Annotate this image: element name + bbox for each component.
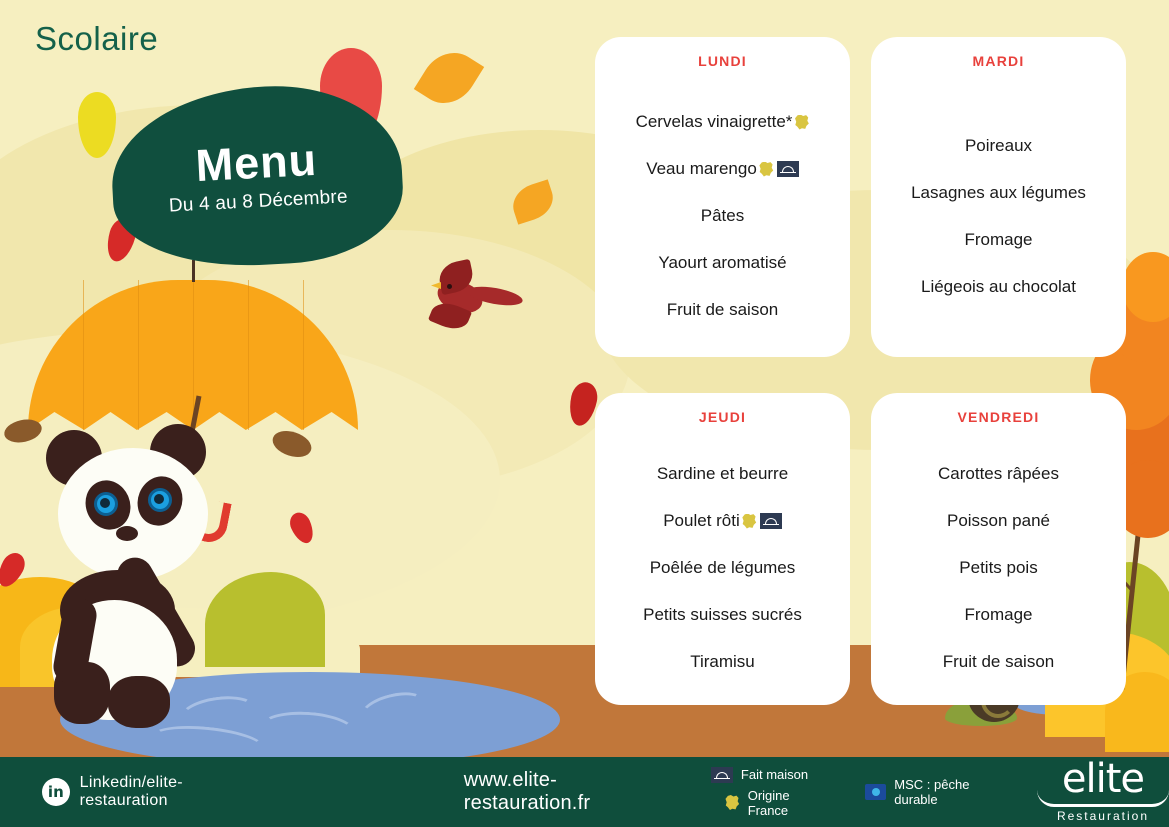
dish-item: Lasagnes aux légumes — [871, 169, 1126, 216]
dish-name: Fruit de saison — [667, 300, 779, 320]
page-title: Scolaire — [35, 20, 158, 58]
dish-item: Poisson pané — [871, 498, 1126, 545]
legend-item-fait-maison: Fait maison — [711, 767, 833, 783]
menu-card-mardi[interactable]: MARDI Poireaux Lasagnes aux légumes From… — [871, 37, 1126, 357]
menu-card-vendredi[interactable]: VENDREDI Carottes râpées Poisson pané Pe… — [871, 393, 1126, 705]
dish-name: Poulet rôti — [663, 511, 740, 531]
dish-name: Pâtes — [701, 206, 744, 226]
dish-item: Carottes râpées — [871, 451, 1126, 498]
dish-list: Poireaux Lasagnes aux légumes Fromage Li… — [871, 83, 1126, 357]
dish-item: Fruit de saison — [871, 639, 1126, 686]
panda-nose — [116, 526, 138, 541]
menu-title: Menu — [194, 136, 318, 187]
legend-item-msc: MSC : pêche durable — [865, 777, 1015, 807]
dish-item: Fromage — [871, 216, 1126, 263]
menu-period: Du 4 au 8 Décembre — [168, 186, 348, 217]
dish-name: Fromage — [964, 230, 1032, 250]
umbrella-tip — [192, 260, 195, 282]
menu-card-jeudi[interactable]: JEUDI Sardine et beurre Poulet rôti Poêl… — [595, 393, 850, 705]
brand-tagline: Restauration — [1057, 809, 1149, 823]
dish-list: Cervelas vinaigrette* Veau marengo Pâtes… — [595, 83, 850, 357]
dish-item: Veau marengo — [595, 146, 850, 193]
footer-bar: in Linkedin/elite-restauration www.elite… — [0, 757, 1169, 827]
dish-icons — [742, 513, 782, 529]
fait-maison-icon — [711, 767, 733, 783]
menu-card-lundi[interactable]: LUNDI Cervelas vinaigrette* Veau marengo… — [595, 37, 850, 357]
dish-item: Fromage — [871, 592, 1126, 639]
origine-france-icon — [759, 162, 774, 177]
day-label: LUNDI — [698, 53, 747, 69]
dish-item: Cervelas vinaigrette* — [595, 99, 850, 146]
dish-item: Tiramisu — [595, 639, 850, 686]
dish-name: Yaourt aromatisé — [658, 253, 786, 273]
linkedin-link[interactable]: in Linkedin/elite-restauration — [42, 774, 269, 810]
dish-list: Sardine et beurre Poulet rôti Poêlée de … — [595, 439, 850, 705]
bird-illustration — [425, 260, 515, 330]
day-label: JEUDI — [699, 409, 746, 425]
linkedin-icon: in — [42, 778, 70, 806]
dish-name: Poêlée de légumes — [650, 558, 796, 578]
legend-label: Origine France — [748, 788, 833, 818]
dish-name: Fruit de saison — [943, 652, 1055, 672]
day-label: VENDREDI — [958, 409, 1040, 425]
panda-leg — [108, 676, 170, 728]
day-label: MARDI — [973, 53, 1025, 69]
website-link[interactable]: www.elite-restauration.fr — [464, 769, 681, 815]
legend-label: Fait maison — [741, 767, 808, 782]
dish-name: Fromage — [964, 605, 1032, 625]
msc-icon — [865, 784, 887, 800]
origine-france-icon — [725, 795, 740, 810]
origine-france-icon — [742, 514, 757, 529]
dish-name: Petits pois — [959, 558, 1037, 578]
panda-illustration — [30, 430, 260, 730]
dish-name: Sardine et beurre — [657, 464, 788, 484]
dish-item: Petits pois — [871, 545, 1126, 592]
menu-poster: Scolaire Menu Du 4 au 8 Décembre LUNDI C… — [0, 0, 1169, 827]
dish-name: Petits suisses sucrés — [643, 605, 802, 625]
dish-name: Poisson pané — [947, 511, 1050, 531]
origine-france-icon — [794, 115, 809, 130]
fait-maison-icon — [777, 161, 799, 177]
dish-icons — [759, 161, 799, 177]
dish-name: Carottes râpées — [938, 464, 1059, 484]
dish-icons — [794, 115, 809, 130]
brand-logo: elite Restauration — [1037, 762, 1169, 823]
dish-name: Lasagnes aux légumes — [911, 183, 1086, 203]
dish-item: Poulet rôti — [595, 498, 850, 545]
dish-item: Sardine et beurre — [595, 451, 850, 498]
dish-name: Cervelas vinaigrette* — [636, 112, 793, 132]
umbrella — [28, 280, 358, 400]
dish-item: Fruit de saison — [595, 287, 850, 334]
dish-list: Carottes râpées Poisson pané Petits pois… — [871, 439, 1126, 705]
dish-item: Petits suisses sucrés — [595, 592, 850, 639]
legend-label: MSC : pêche durable — [894, 777, 1015, 807]
leaf-orange — [414, 42, 484, 115]
dish-name: Liégeois au chocolat — [921, 277, 1076, 297]
fait-maison-icon — [760, 513, 782, 529]
legend-block: Fait maison Origine France — [711, 767, 833, 818]
linkedin-label: Linkedin/elite-restauration — [80, 774, 269, 810]
dish-item: Liégeois au chocolat — [871, 263, 1126, 310]
brand-name: elite — [1062, 762, 1144, 796]
dish-name: Tiramisu — [690, 652, 755, 672]
dish-name: Veau marengo — [646, 159, 757, 179]
dish-item: Poêlée de légumes — [595, 545, 850, 592]
dish-item: Poireaux — [871, 122, 1126, 169]
legend-item-origine-france: Origine France — [725, 788, 833, 818]
dish-item: Yaourt aromatisé — [595, 240, 850, 287]
dish-item: Pâtes — [595, 193, 850, 240]
dish-name: Poireaux — [965, 136, 1032, 156]
